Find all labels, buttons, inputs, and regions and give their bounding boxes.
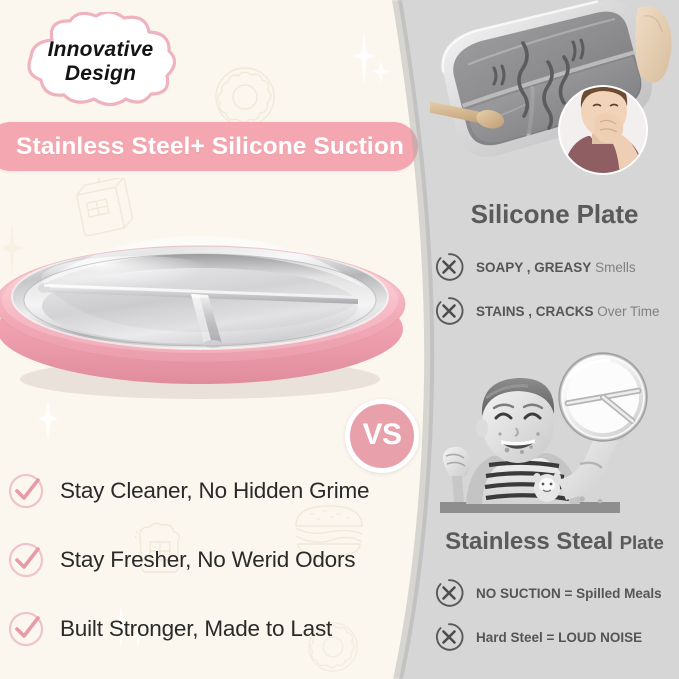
- con-bold-3: NO SUCTION = Spilled Meals: [476, 586, 662, 601]
- silicone-plate-section: Silicone Plate SOAPY , GREASY Smells: [430, 0, 679, 340]
- check-circle-icon: [6, 471, 46, 511]
- con-item-2: STAINS , CRACKS Over Time: [434, 296, 679, 326]
- con-text-3: NO SUCTION = Spilled Meals: [476, 586, 662, 601]
- x-circle-icon: [434, 578, 464, 608]
- stainless-steal-title-main: Stainless Steal: [445, 528, 613, 555]
- con-bold-1: SOAPY , GREASY: [476, 260, 591, 275]
- sparkle-icon: [348, 34, 394, 95]
- badge-line-2: Design: [65, 62, 136, 86]
- benefit-item-1: Stay Cleaner, No Hidden Grime: [6, 466, 396, 516]
- innovative-design-badge: Innovative Design: [18, 12, 183, 110]
- con-bold-2: STAINS , CRACKS: [476, 304, 594, 319]
- benefit-label-2: Stay Fresher, No Werid Odors: [60, 547, 355, 573]
- benefit-item-2: Stay Fresher, No Werid Odors: [6, 535, 396, 585]
- headline-banner: Stainless Steel+ Silicone Suction: [0, 122, 418, 171]
- left-product-panel: Innovative Design Stainless Steel+ Silic…: [0, 0, 440, 679]
- benefit-label-1: Stay Cleaner, No Hidden Grime: [60, 478, 369, 504]
- con-light-1: Smells: [595, 260, 636, 275]
- stainless-steal-cons: NO SUCTION = Spilled Meals Hard Steel = …: [430, 578, 679, 652]
- con-item-1: SOAPY , GREASY Smells: [434, 252, 679, 282]
- right-comparison-panel: Silicone Plate SOAPY , GREASY Smells: [430, 0, 679, 679]
- product-plate-image: [0, 196, 414, 404]
- benefits-list: Stay Cleaner, No Hidden Grime Stay Fresh…: [6, 466, 396, 654]
- vs-badge: VS: [345, 399, 419, 473]
- x-circle-icon: [434, 252, 464, 282]
- check-circle-icon: [6, 540, 46, 580]
- con-item-4: Hard Steel = LOUD NOISE: [434, 622, 679, 652]
- badge-text: Innovative Design: [18, 13, 183, 111]
- sparkle-icon-2: [34, 400, 70, 449]
- vs-badge-label: VS: [362, 418, 401, 452]
- con-text-4: Hard Steel = LOUD NOISE: [476, 630, 642, 645]
- con-text-2: STAINS , CRACKS Over Time: [476, 304, 660, 319]
- toddler-plate-image: [430, 352, 679, 522]
- stainless-steal-plate-title: Stainless Steal Plate: [430, 528, 679, 556]
- con-item-3: NO SUCTION = Spilled Meals: [434, 578, 679, 608]
- x-circle-icon: [434, 622, 464, 652]
- check-circle-icon: [6, 609, 46, 649]
- silicone-plate-title-text: Silicone Plate: [471, 199, 639, 229]
- benefit-label-3: Built Stronger, Made to Last: [60, 616, 332, 642]
- stainless-steal-plate-section: Stainless Steal Plate NO SUCTION = Spill…: [430, 352, 679, 666]
- x-circle-icon: [434, 296, 464, 326]
- silicone-plate-title: Silicone Plate: [430, 199, 679, 230]
- headline-banner-text: Stainless Steel+ Silicone Suction: [0, 133, 404, 161]
- silicone-plate-image: [430, 0, 679, 195]
- con-light-2: Over Time: [597, 304, 659, 319]
- silicone-plate-cons: SOAPY , GREASY Smells STAINS , CRACKS Ov…: [430, 252, 679, 326]
- badge-line-1: Innovative: [48, 38, 154, 62]
- stainless-steal-title-sub: Plate: [620, 532, 664, 553]
- con-text-1: SOAPY , GREASY Smells: [476, 260, 636, 275]
- benefit-item-3: Built Stronger, Made to Last: [6, 604, 396, 654]
- infographic-canvas: Innovative Design Stainless Steel+ Silic…: [0, 0, 679, 679]
- con-bold-4: Hard Steel = LOUD NOISE: [476, 630, 642, 645]
